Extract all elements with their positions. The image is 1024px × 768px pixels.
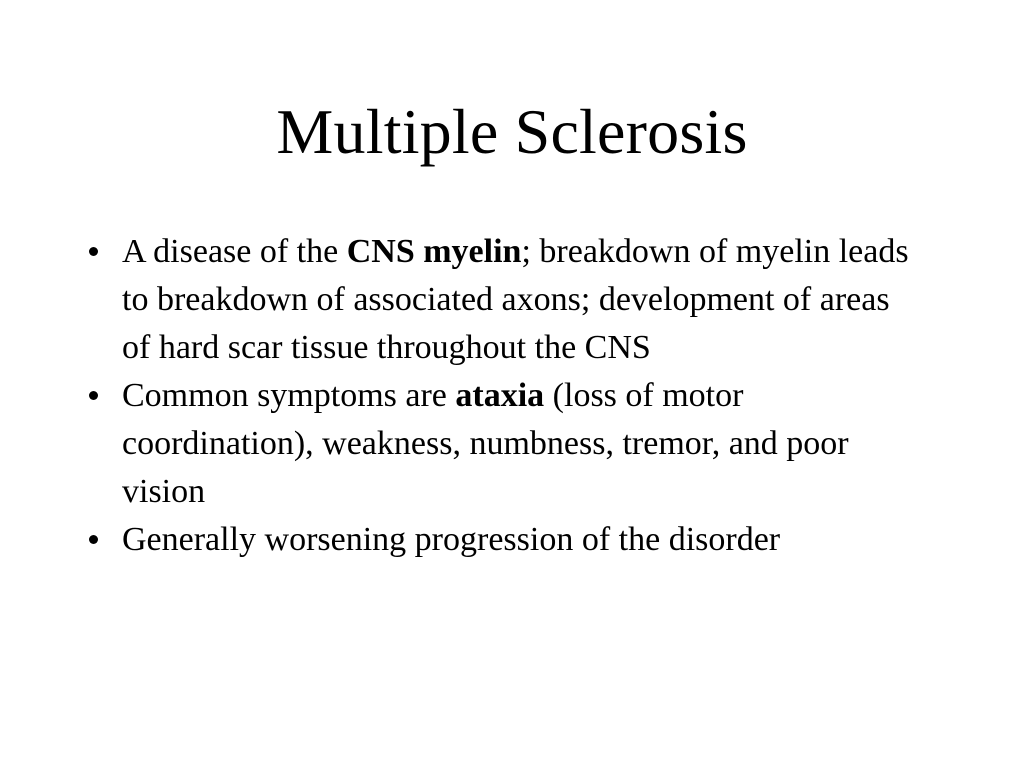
bullet-list: A disease of the CNS myelin; breakdown o…	[78, 228, 918, 564]
presentation-slide: Multiple Sclerosis A disease of the CNS …	[0, 0, 1024, 768]
bullet-dot-icon	[89, 535, 98, 544]
list-item: A disease of the CNS myelin; breakdown o…	[78, 228, 918, 372]
bullet-dot-icon	[89, 247, 98, 256]
bullet-dot-icon	[89, 391, 98, 400]
page-title: Multiple Sclerosis	[0, 96, 1024, 168]
list-item-text: A disease of the CNS myelin; breakdown o…	[122, 228, 918, 372]
list-item-text: Common symptoms are ataxia (loss of moto…	[122, 372, 918, 516]
list-item: Common symptoms are ataxia (loss of moto…	[78, 372, 918, 516]
list-item: Generally worsening progression of the d…	[78, 516, 918, 564]
list-item-text: Generally worsening progression of the d…	[122, 516, 918, 564]
